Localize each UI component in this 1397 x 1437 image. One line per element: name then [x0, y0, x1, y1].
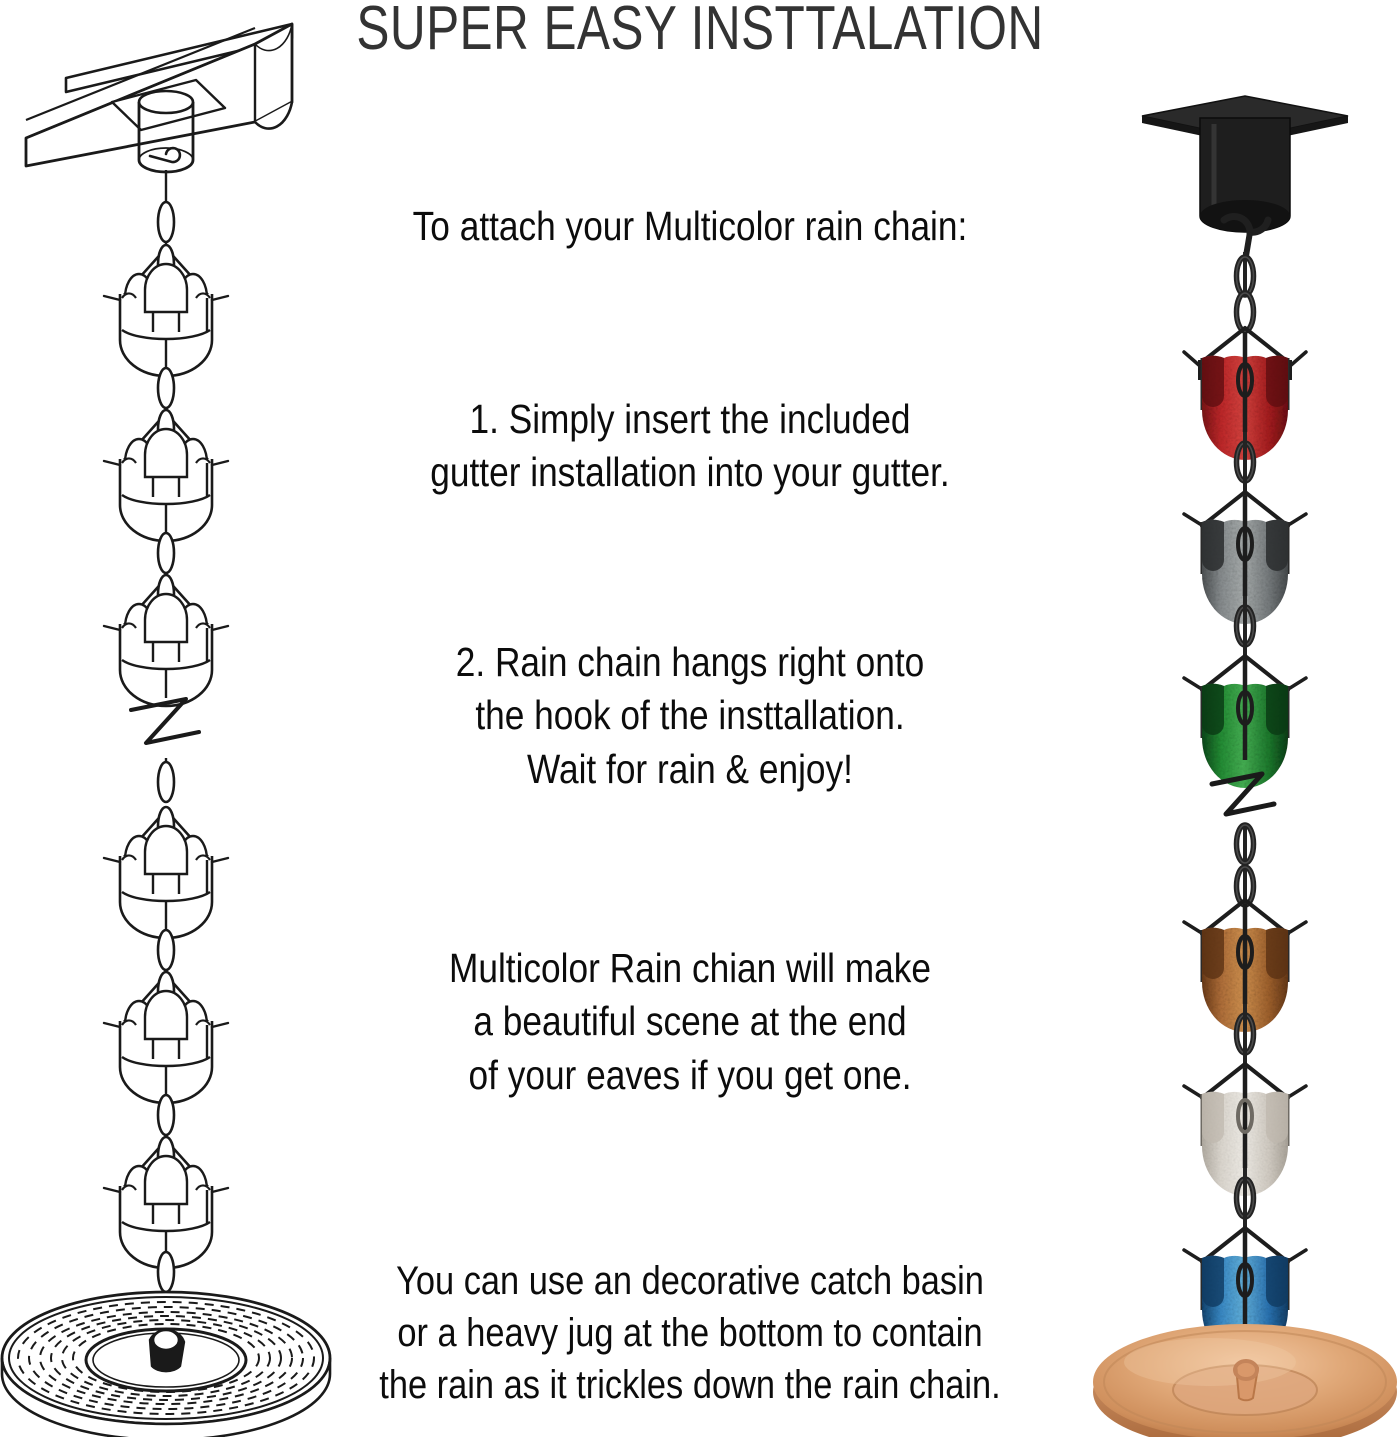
intro-line: To attach your Multicolor rain chain:	[389, 200, 991, 253]
step-1-line-1: 1. Simply insert the included	[389, 393, 991, 446]
step-2-text: 2. Rain chain hangs right onto the hook …	[389, 636, 991, 796]
step-2-line-1: 2. Rain chain hangs right onto	[389, 636, 991, 689]
copper-catch-basin	[1093, 1324, 1397, 1437]
basin-line-2: or a heavy jug at the bottom to contain	[372, 1307, 1008, 1359]
scene-text: Multicolor Rain chian will make a beauti…	[389, 942, 991, 1102]
step-2-line-2: the hook of the insttallation.	[389, 689, 991, 742]
chain-break-zigzag-icon-right	[1212, 774, 1274, 910]
scene-line-3: of your eaves if you get one.	[389, 1049, 991, 1102]
basin-text: You can use an decorative catch basin or…	[372, 1255, 1008, 1411]
basin-line-3: the rain as it trickles down the rain ch…	[372, 1359, 1008, 1411]
line-art-diagram	[0, 10, 340, 1437]
pewter-cup	[1184, 492, 1306, 664]
line-art-catch-basin	[2, 1292, 330, 1437]
step-1-line-2: gutter installation into your gutter.	[389, 446, 991, 499]
chain-to-cup-1	[1237, 252, 1254, 331]
page-title: SUPER EASY INSTTALATION	[300, 0, 1100, 62]
intro-text: To attach your Multicolor rain chain:	[389, 200, 991, 253]
step-1-text: 1. Simply insert the included gutter ins…	[389, 393, 991, 500]
basin-line-1: You can use an decorative catch basin	[372, 1255, 1008, 1307]
scene-line-1: Multicolor Rain chian will make	[389, 942, 991, 995]
product-photo-chain	[1090, 80, 1397, 1437]
step-2-line-3: Wait for rain & enjoy!	[389, 743, 991, 796]
red-cup	[1184, 328, 1306, 500]
scene-line-2: a beautiful scene at the end	[389, 995, 991, 1048]
infographic-page: SUPER EASY INSTTALATION	[0, 0, 1397, 1437]
cream-cup	[1184, 1064, 1306, 1236]
copper-cup	[1184, 900, 1306, 1072]
gutter-installer-bracket	[1142, 96, 1348, 256]
green-cup	[1184, 656, 1306, 788]
